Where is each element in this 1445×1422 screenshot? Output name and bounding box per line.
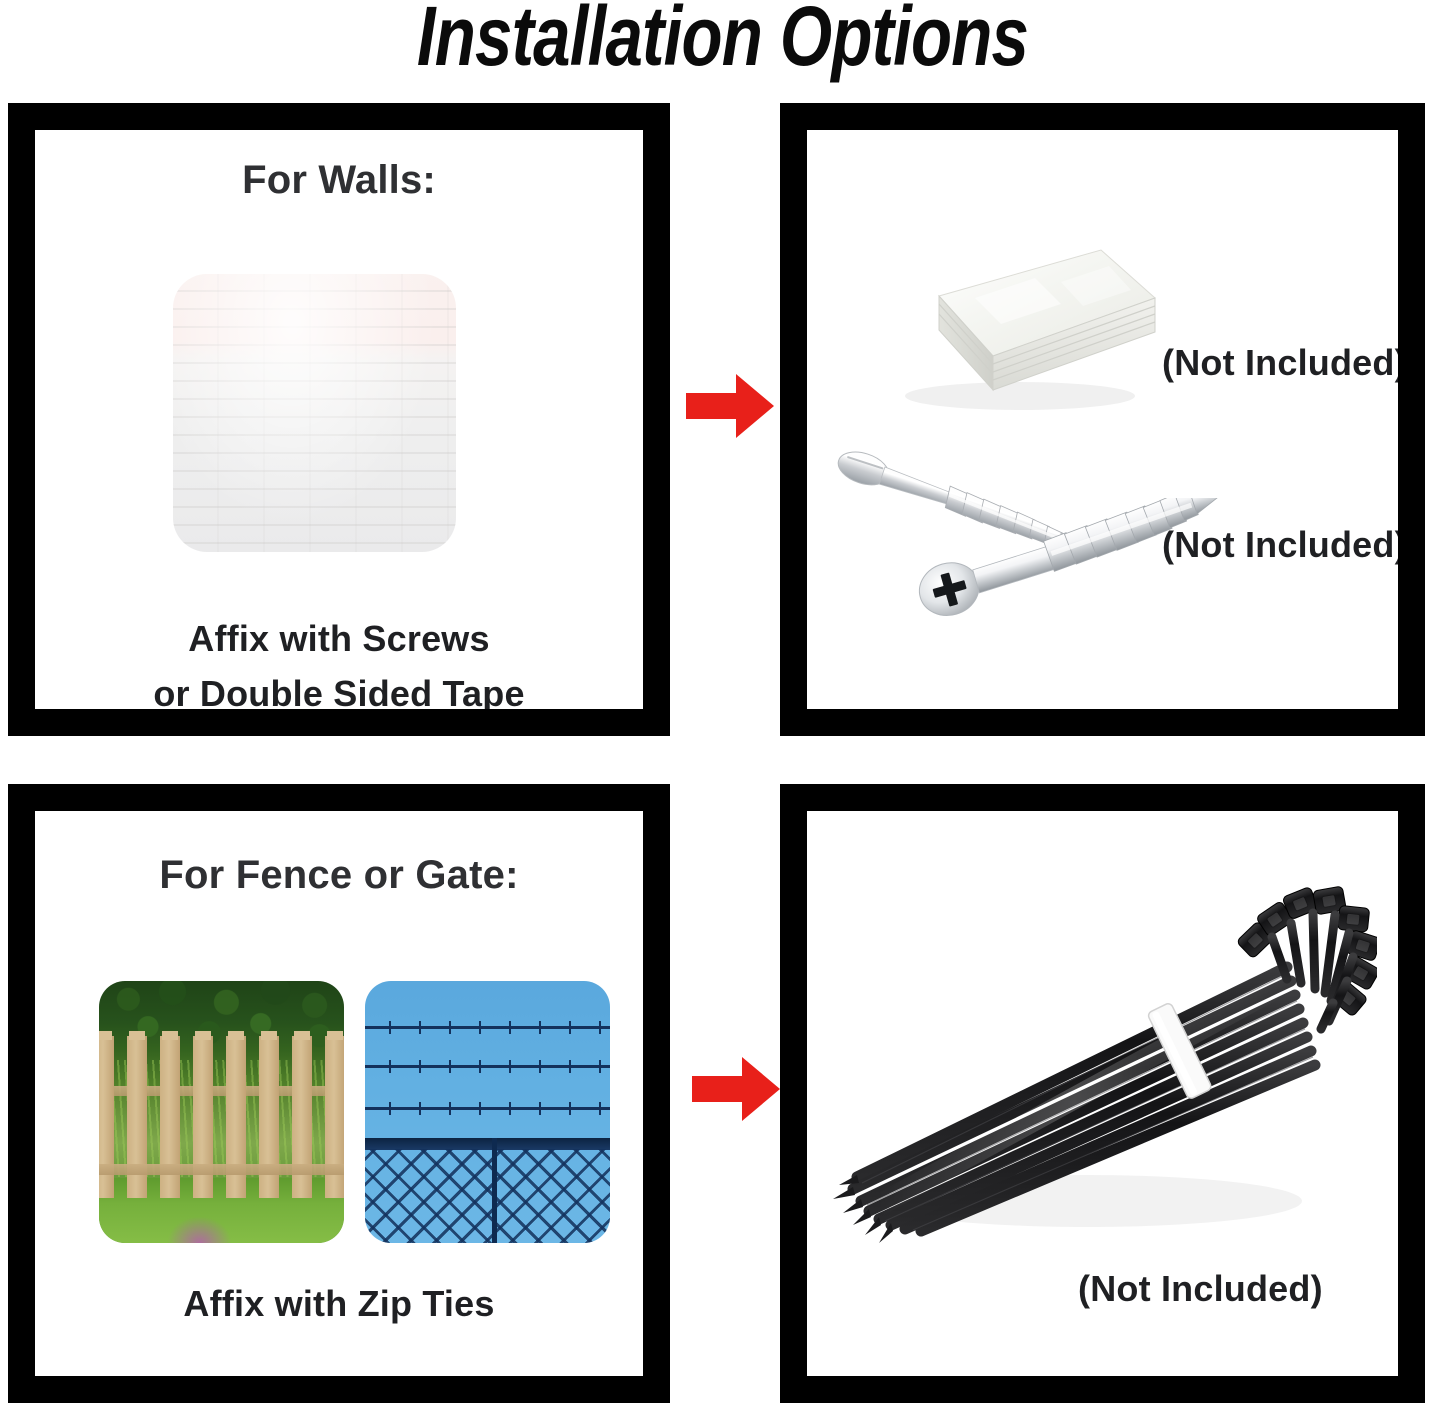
fence-rail-bottom: [99, 1164, 344, 1174]
chain-link-barbed-wire-fence-photo: [365, 981, 610, 1243]
white-brick-wall-photo: [173, 274, 456, 552]
zip-ties-not-included-label: (Not Included): [1078, 1268, 1323, 1310]
fence-picket-tops: [99, 1031, 344, 1040]
fence-post: [492, 1138, 497, 1243]
arrow-right-icon: [690, 1054, 782, 1124]
for-walls-heading: For Walls:: [35, 158, 643, 203]
walls-caption-line-2: or Double Sided Tape: [35, 673, 643, 709]
barbed-wire-strand-2: [365, 1065, 610, 1068]
black-zip-ties-bundle-image: [817, 871, 1377, 1271]
panel-for-walls-inner: For Walls: Affix with Screws or Double S…: [35, 130, 643, 709]
photo-sheen: [173, 274, 456, 552]
panel-for-walls: For Walls: Affix with Screws or Double S…: [8, 103, 670, 736]
wooden-picket-fence-photo: [99, 981, 344, 1243]
panel-wall-hardware-inner: (Not Included): [807, 130, 1398, 709]
barbed-wire-strand-3: [365, 1107, 610, 1110]
screws-not-included-label: (Not Included): [1162, 524, 1398, 566]
arrow-right-icon: [684, 371, 776, 441]
page-title: Installation Options: [145, 0, 1301, 78]
panel-fence-hardware-inner: (Not Included): [807, 811, 1398, 1376]
fence-caption: Affix with Zip Ties: [35, 1283, 643, 1325]
chain-link-mesh: [365, 1149, 610, 1243]
tape-not-included-label: (Not Included): [1162, 342, 1398, 384]
panel-wall-hardware: (Not Included): [780, 103, 1425, 736]
panel-fence-hardware: (Not Included): [780, 784, 1425, 1403]
double-sided-tape-pads-image: [865, 238, 1165, 423]
walls-caption-line-1: Affix with Screws: [35, 618, 643, 660]
panel-for-fence-or-gate: For Fence or Gate: Affix with Zip Ties: [8, 784, 670, 1403]
panel-for-fence-or-gate-inner: For Fence or Gate: Affix with Zip Ties: [35, 811, 643, 1376]
barbed-wire-strand-1: [365, 1026, 610, 1029]
for-fence-or-gate-heading: For Fence or Gate:: [35, 853, 643, 898]
